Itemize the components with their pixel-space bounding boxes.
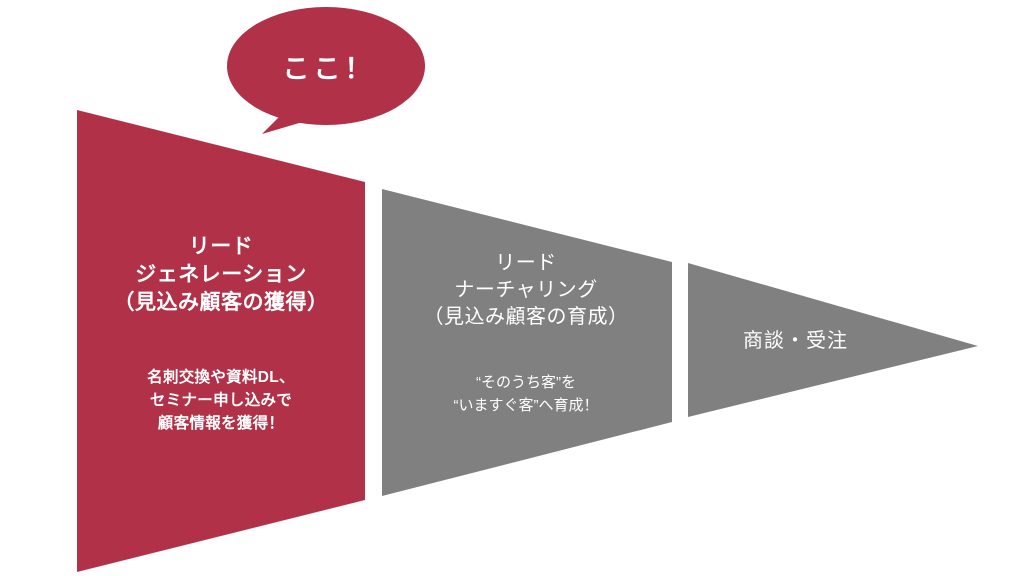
funnel-stage-1-shape[interactable] [77,110,365,572]
funnel-stage-3-shape[interactable] [688,263,978,417]
callout-bubble[interactable] [227,7,425,134]
funnel-diagram [0,0,1024,576]
speech-bubble-icon [227,7,425,125]
funnel-stage-2-shape[interactable] [382,189,672,496]
